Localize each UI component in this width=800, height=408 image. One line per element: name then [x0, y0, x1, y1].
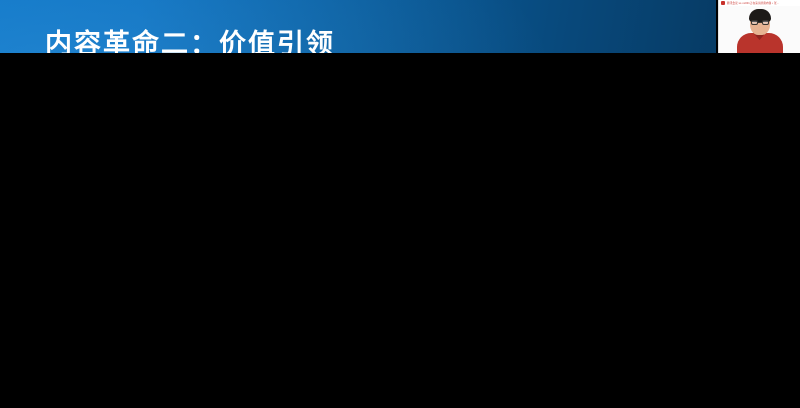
video-status-label: 腾讯会议 sx-xx001正在演示屏幕内容 • 张…: [727, 1, 779, 5]
glasses-icon: [751, 20, 769, 25]
video-call-panel[interactable]: 腾讯会议 sx-xx001正在演示屏幕内容 • 张…: [718, 0, 800, 53]
speaker-video: [719, 6, 800, 53]
meeting-logo-icon: [721, 1, 725, 5]
screen-root: 内容革命二：价值引领 传统的活动，在过程中寻找背后的亮点、深挖教育内涵，推出一系…: [0, 0, 800, 408]
screen-letterbox: [0, 53, 800, 408]
